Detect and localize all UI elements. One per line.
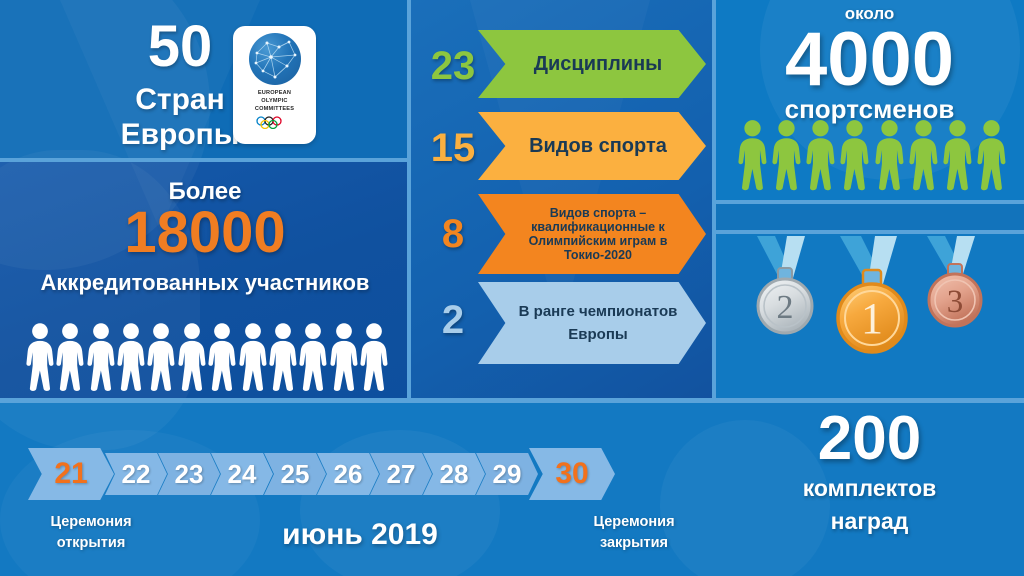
network-globe-icon	[249, 33, 301, 85]
athletes-number: 4000	[715, 22, 1024, 98]
calendar-day-30[interactable]: 30	[529, 448, 615, 500]
arrow-qualifying[interactable]: Видов спорта – квалификационные к Олимпи…	[478, 194, 706, 274]
countries-number: 50	[110, 18, 250, 76]
person-icon	[299, 321, 327, 393]
person-icon	[806, 118, 835, 192]
calendar-day-24[interactable]: 24	[211, 453, 273, 495]
calendar-strip: 21222324252627282930	[28, 448, 615, 500]
person-icon	[840, 118, 869, 192]
person-icon	[26, 321, 54, 393]
calendar-day-22[interactable]: 22	[105, 453, 167, 495]
person-icon	[147, 321, 175, 393]
bronze-medal-icon: 3	[927, 236, 981, 326]
closing-ceremony-label: Церемония закрытия	[554, 512, 714, 554]
arrow-sports[interactable]: Видов спорта	[478, 112, 706, 180]
infographic-poster: 50 Стран Европы	[0, 0, 1024, 576]
arrow-number-disciplines: 23	[420, 46, 486, 86]
person-icon	[738, 118, 767, 192]
person-icon	[208, 321, 236, 393]
calendar-day-27[interactable]: 27	[370, 453, 432, 495]
olympic-rings-icon	[253, 116, 297, 129]
arrow-number-championships: 2	[420, 300, 486, 340]
person-icon	[117, 321, 145, 393]
calendar-day-label: 26	[334, 459, 363, 490]
athletes-people-row	[738, 116, 1006, 192]
calendar-day-label: 28	[440, 459, 469, 490]
arrow-label-qualifying: Видов спорта – квалификационные к Олимпи…	[478, 206, 706, 262]
person-icon	[772, 118, 801, 192]
divider-right-horizontal-1	[716, 200, 1024, 204]
awards-caption-line2: наград	[715, 505, 1024, 538]
calendar-day-label: 30	[555, 457, 588, 491]
closing-ceremony-line2: закрытия	[554, 533, 714, 554]
participants-people-row	[26, 305, 388, 393]
person-icon	[909, 118, 938, 192]
person-icon	[269, 321, 297, 393]
person-icon	[943, 118, 972, 192]
medals-group: 2 1 3	[735, 236, 1005, 386]
participants-number: 18000	[0, 203, 410, 264]
calendar-day-25[interactable]: 25	[264, 453, 326, 495]
calendar-day-label: 29	[493, 459, 522, 490]
arrow-championships[interactable]: В ранге чемпионатов Европы	[478, 282, 706, 364]
awards-caption: комплектов наград	[715, 472, 1024, 539]
person-icon	[330, 321, 358, 393]
participants-caption: Аккредитованных участников	[0, 270, 410, 296]
arrow-number-sports: 15	[420, 128, 486, 168]
svg-text:2: 2	[777, 289, 794, 326]
opening-ceremony-line2: открытия	[6, 533, 176, 554]
arrow-label-sports: Видов спорта	[503, 135, 681, 157]
calendar-day-29[interactable]: 29	[476, 453, 538, 495]
calendar-day-23[interactable]: 23	[158, 453, 220, 495]
opening-ceremony-label: Церемония открытия	[6, 512, 176, 554]
gold-medal-icon: 1	[838, 236, 906, 352]
person-icon	[178, 321, 206, 393]
divider-right-horizontal-2	[716, 230, 1024, 234]
eoc-logo: EUROPEAN OLYMPIC COMMITTEES	[233, 26, 316, 144]
calendar-day-26[interactable]: 26	[317, 453, 379, 495]
arrow-disciplines[interactable]: Дисциплины	[478, 30, 706, 98]
eoc-logo-line1: EUROPEAN	[255, 89, 294, 97]
svg-text:3: 3	[947, 284, 964, 320]
divider-left-horizontal	[0, 158, 410, 162]
person-icon	[977, 118, 1006, 192]
awards-caption-line1: комплектов	[715, 472, 1024, 505]
person-icon	[360, 321, 388, 393]
closing-ceremony-line1: Церемония	[554, 512, 714, 533]
arrow-label-championships: В ранге чемпионатов Европы	[478, 300, 706, 347]
calendar-day-21[interactable]: 21	[28, 448, 114, 500]
arrow-label-disciplines: Дисциплины	[508, 53, 677, 75]
calendar-day-label: 27	[387, 459, 416, 490]
person-icon	[56, 321, 84, 393]
person-icon	[239, 321, 267, 393]
eoc-logo-text: EUROPEAN OLYMPIC COMMITTEES	[255, 89, 294, 113]
calendar-day-label: 24	[228, 459, 257, 490]
arrow-number-qualifying: 8	[420, 214, 486, 254]
background-right-middle	[715, 204, 1024, 230]
calendar-day-label: 21	[54, 457, 87, 491]
awards-number: 200	[715, 408, 1024, 470]
silver-medal-icon: 2	[757, 236, 812, 333]
calendar-day-label: 25	[281, 459, 310, 490]
person-icon	[87, 321, 115, 393]
person-icon	[875, 118, 904, 192]
svg-text:1: 1	[861, 294, 883, 343]
opening-ceremony-line1: Церемония	[6, 512, 176, 533]
calendar-day-label: 22	[122, 459, 151, 490]
eoc-logo-line2: OLYMPIC	[255, 97, 294, 105]
calendar-day-label: 23	[175, 459, 204, 490]
calendar-day-28[interactable]: 28	[423, 453, 485, 495]
divider-bottom-horizontal	[0, 398, 1024, 403]
calendar-month: июнь 2019	[230, 518, 490, 552]
eoc-logo-line3: COMMITTEES	[255, 105, 294, 113]
